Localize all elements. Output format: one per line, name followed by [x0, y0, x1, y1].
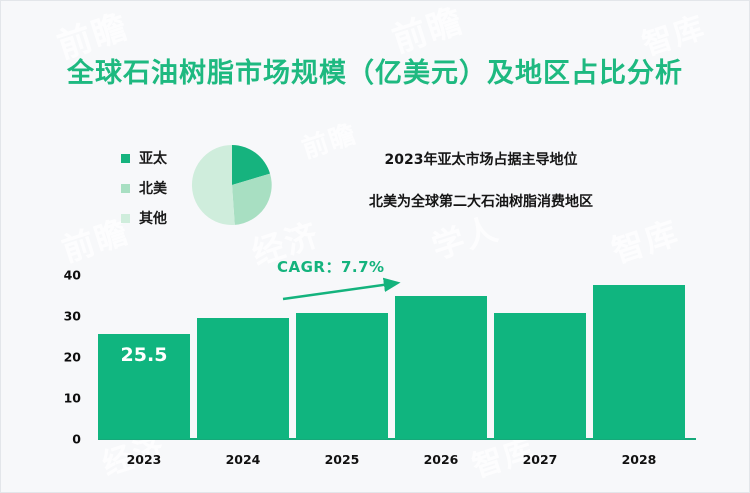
pie-slice-others[interactable]	[192, 145, 235, 225]
legend-label-north-america: 北美	[139, 178, 167, 198]
bar-2025[interactable]	[296, 313, 388, 439]
y-tick-30: 30	[41, 309, 81, 324]
legend-item-others[interactable]: 其他	[121, 203, 167, 233]
pie-legend: 亚太 北美 其他	[121, 143, 167, 233]
chart-canvas: 前瞻 前瞻 智库 前瞻 经济 学人 智库 经济 智库 前瞻 全球石油树脂市场规模…	[0, 0, 750, 493]
x-label-2024: 2024	[197, 452, 289, 467]
bar-2027[interactable]	[494, 313, 586, 439]
bar-2026[interactable]	[395, 296, 487, 439]
y-tick-40: 40	[41, 268, 81, 283]
legend-label-others: 其他	[139, 208, 167, 228]
y-tick-10: 10	[41, 391, 81, 406]
x-label-2028: 2028	[593, 452, 685, 467]
cagr-label: CAGR：7.7%	[277, 256, 385, 277]
page-title: 全球石油树脂市场规模（亿美元）及地区占比分析	[1, 51, 749, 90]
watermark: 经济	[96, 422, 170, 484]
legend-item-north-america[interactable]: 北美	[121, 173, 167, 203]
x-label-2023: 2023	[98, 452, 190, 467]
legend-swatch-north-america	[121, 184, 130, 193]
y-tick-0: 0	[41, 432, 81, 447]
watermark: 智库	[466, 424, 540, 486]
y-tick-20: 20	[41, 350, 81, 365]
annotation-line-1: 2023年亚太市场占据主导地位	[331, 149, 631, 169]
annotation-block: 2023年亚太市场占据主导地位 北美为全球第二大石油树脂消费地区	[331, 149, 631, 233]
x-axis-line	[98, 438, 696, 440]
bar-2024[interactable]	[197, 318, 289, 439]
legend-item-asia-pacific[interactable]: 亚太	[121, 143, 167, 173]
legend-swatch-asia-pacific	[121, 154, 130, 163]
legend-label-asia-pacific: 亚太	[139, 148, 167, 168]
x-label-2025: 2025	[296, 452, 388, 467]
legend-swatch-others	[121, 214, 130, 223]
bar-value-label-2023: 25.5	[98, 344, 190, 366]
annotation-line-2: 北美为全球第二大石油树脂消费地区	[331, 191, 631, 211]
cagr-arrow-icon	[281, 277, 411, 305]
bar-2023[interactable]	[98, 334, 190, 439]
x-label-2026: 2026	[395, 452, 487, 467]
pie-chart	[190, 143, 274, 227]
x-label-2027: 2027	[494, 452, 586, 467]
pie-chart-svg	[190, 143, 274, 227]
bar-2028[interactable]	[593, 285, 685, 439]
